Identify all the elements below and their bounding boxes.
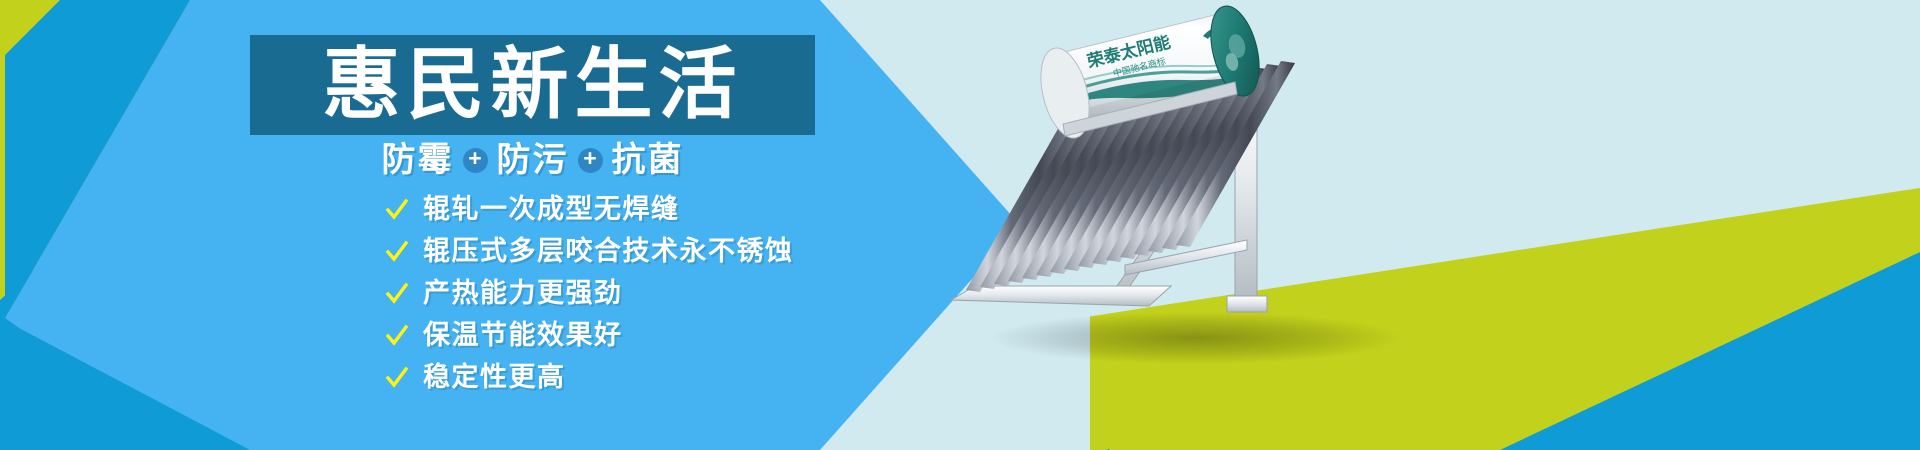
feature-label: 辊轧一次成型无焊缝 bbox=[423, 196, 680, 223]
check-icon bbox=[385, 366, 409, 390]
feature-label: 产热能力更强劲 bbox=[423, 280, 623, 307]
subtitle-word-1: 防霉 bbox=[382, 143, 454, 177]
subtitle-word-2: 防污 bbox=[497, 143, 569, 177]
check-icon bbox=[385, 324, 409, 348]
list-item: 辊压式多层咬合技术永不锈蚀 bbox=[385, 234, 794, 269]
plus-glyph-2: + bbox=[583, 147, 596, 170]
subtitle-row: 防霉 + 防污 + 抗菌 bbox=[250, 143, 815, 177]
list-item: 辊轧一次成型无焊缝 bbox=[385, 192, 794, 227]
check-icon bbox=[385, 240, 409, 264]
list-item: 保温节能效果好 bbox=[385, 318, 794, 353]
solar-water-heater-image: 荣泰太阳能 中国驰名商标 bbox=[935, 0, 1575, 370]
title-band: 惠民新生活 bbox=[250, 35, 815, 135]
plus-icon-1: + bbox=[463, 148, 488, 173]
subtitle-word-3: 抗菌 bbox=[612, 143, 684, 177]
plus-icon-2: + bbox=[578, 148, 603, 173]
page-title: 惠民新生活 bbox=[322, 46, 742, 124]
plus-glyph-1: + bbox=[468, 147, 481, 170]
check-icon bbox=[385, 198, 409, 222]
feature-list: 辊轧一次成型无焊缝 辊压式多层咬合技术永不锈蚀 产热能力更强劲 保温节能效果好 bbox=[385, 192, 794, 395]
promo-banner: 惠民新生活 防霉 + 防污 + 抗菌 辊轧一次成型无焊缝 辊压式多层咬合技术永不… bbox=[0, 0, 1920, 450]
feature-label: 辊压式多层咬合技术永不锈蚀 bbox=[423, 238, 794, 265]
list-item: 稳定性更高 bbox=[385, 360, 794, 395]
list-item: 产热能力更强劲 bbox=[385, 276, 794, 311]
check-icon bbox=[385, 282, 409, 306]
feature-label: 稳定性更高 bbox=[423, 364, 566, 391]
product-shadow bbox=[990, 312, 1400, 364]
feature-label: 保温节能效果好 bbox=[423, 322, 623, 349]
